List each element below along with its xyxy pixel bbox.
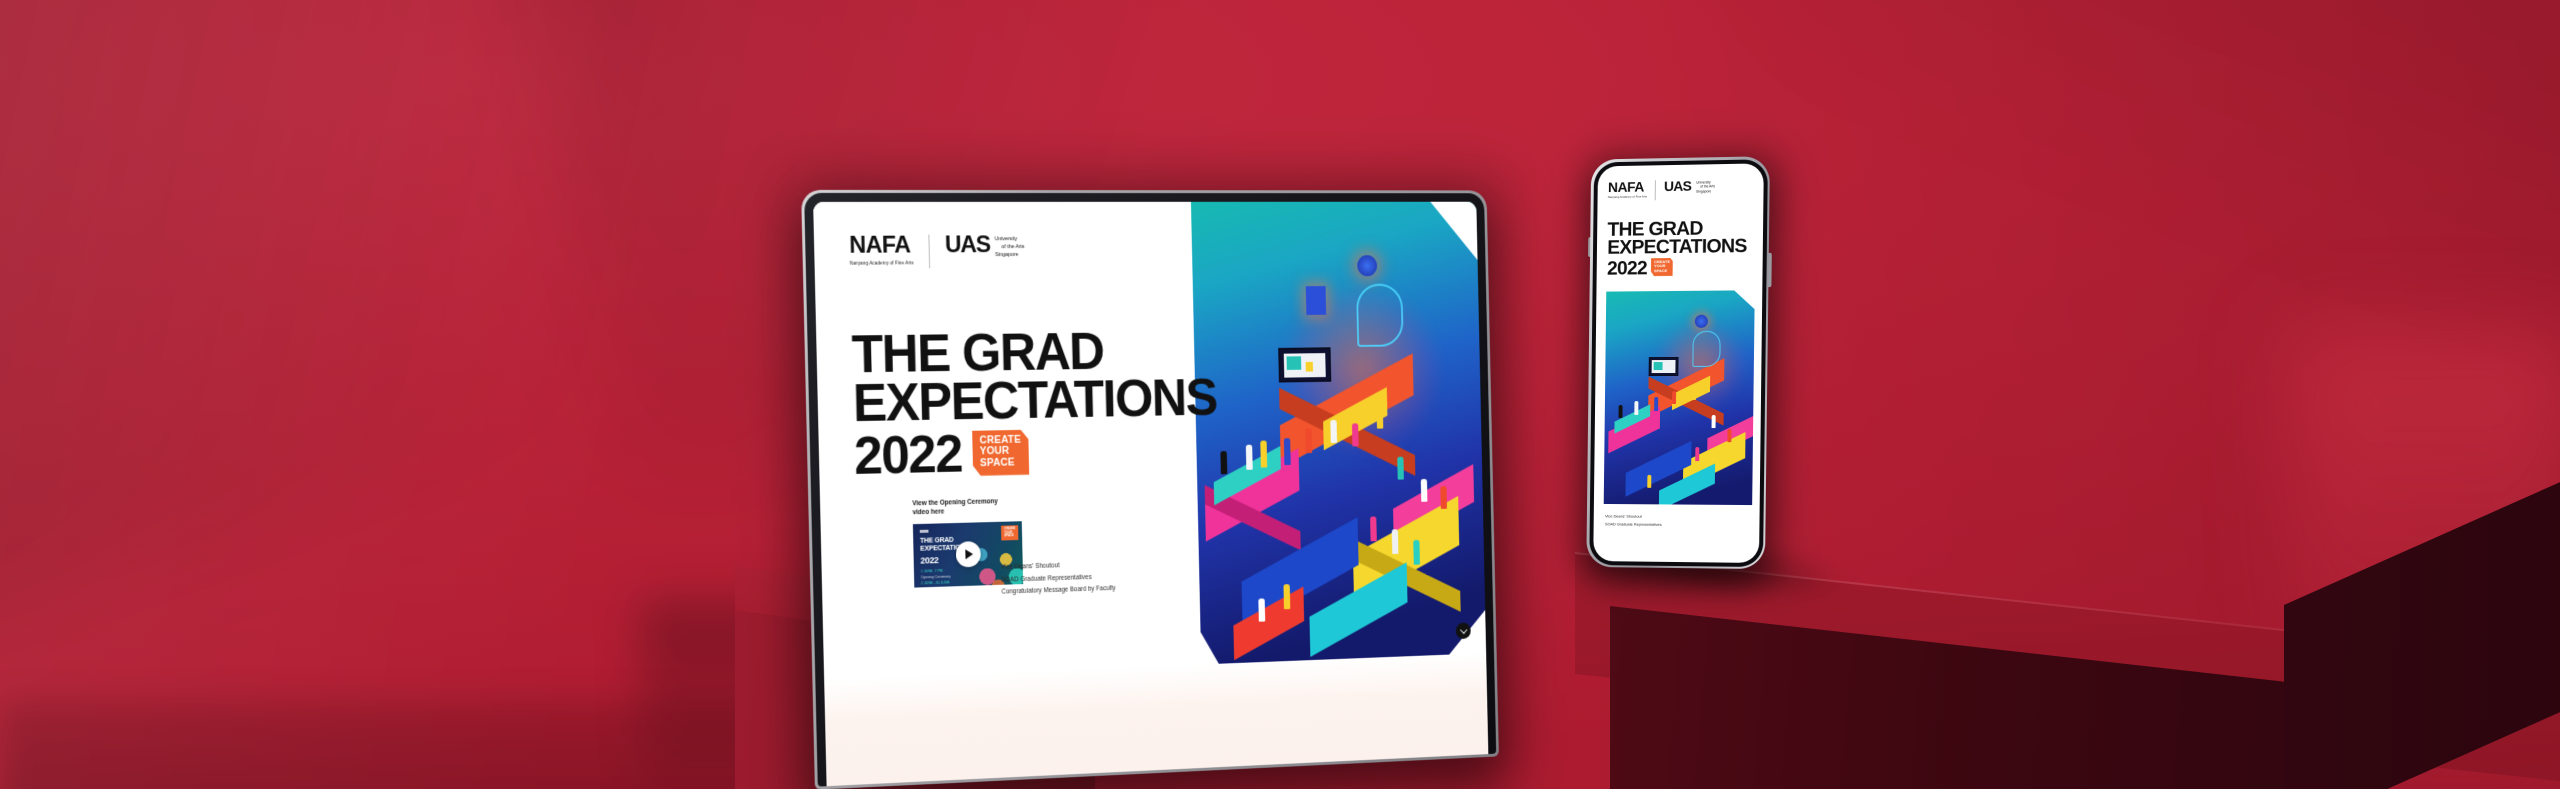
uas-tagline-line3: Singapore bbox=[995, 252, 1025, 260]
nafa-wordmark: NAFA bbox=[849, 234, 913, 258]
phone-uas-tagline-line3: Singapore bbox=[1696, 189, 1715, 194]
iso-figure bbox=[1330, 420, 1337, 443]
phone-iso-figure bbox=[1618, 405, 1622, 418]
phone-uas-wordmark: UAS bbox=[1664, 178, 1691, 192]
nafa-tagline: Nanyang Academy of Fine Arts bbox=[850, 260, 914, 265]
phone-badge-line3: SPACE bbox=[1654, 269, 1670, 274]
phone-iso-figure bbox=[1672, 390, 1676, 403]
phone-volume-button[interactable] bbox=[1588, 237, 1591, 257]
phone-site-header: NAFA Nanyang Academy of Fine Arts UAS Un… bbox=[1608, 178, 1715, 201]
video-thumb-meta-line4: Online Showcase bbox=[921, 586, 951, 588]
uas-logo[interactable]: UAS University of the Arts Singapore bbox=[945, 233, 1025, 259]
phone-hero-illustration bbox=[1603, 290, 1755, 505]
link-congratulatory-message-board[interactable]: Congratulatory Message Board by Faculty bbox=[1001, 583, 1115, 599]
laptop-shell: NAFA Nanyang Academy of Fine Arts UAS Un… bbox=[801, 190, 1499, 789]
phone-iso-orb bbox=[1694, 314, 1707, 327]
uas-tagline: University of the Arts Singapore bbox=[995, 233, 1025, 259]
video-thumb-badge-line3: SPACE bbox=[1004, 534, 1015, 538]
hero-link-list: Vice Deans' Shoutout SOAD Graduate Repre… bbox=[1001, 559, 1116, 600]
iso-figure bbox=[1246, 445, 1253, 470]
phone-link-list: Vice Deans' Shoutout SOAD Graduate Repre… bbox=[1605, 512, 1662, 528]
website-viewport: NAFA Nanyang Academy of Fine Arts UAS Un… bbox=[813, 202, 1488, 786]
iso-figure bbox=[1352, 423, 1359, 446]
video-thumb-year: 2022 bbox=[920, 555, 938, 565]
scene-stage: NAFA Nanyang Academy of Fine Arts UAS Un… bbox=[0, 0, 2560, 789]
iso-figure bbox=[1440, 486, 1447, 509]
phone-bezel: NAFA Nanyang Academy of Fine Arts UAS Un… bbox=[1589, 159, 1768, 567]
phone-link-vice-deans-shoutout[interactable]: Vice Deans' Shoutout bbox=[1605, 512, 1662, 520]
video-label: View the Opening Ceremony video here bbox=[912, 497, 1018, 518]
badge-line3: SPACE bbox=[980, 457, 1022, 469]
iso-figure bbox=[1258, 598, 1265, 621]
hero-year: 2022 bbox=[854, 431, 963, 482]
phone-iso-figure bbox=[1711, 415, 1715, 428]
iso-figure bbox=[1220, 451, 1227, 474]
iso-figure bbox=[1397, 457, 1404, 480]
chevron-down-icon bbox=[1460, 626, 1467, 634]
hero-illustration bbox=[1191, 202, 1486, 665]
uas-wordmark: UAS bbox=[945, 233, 991, 257]
phone-nafa-tagline: Nanyang Academy of Fine Arts bbox=[1608, 195, 1647, 199]
iso-monitor-tile-yellow bbox=[1306, 362, 1313, 372]
logo-divider bbox=[928, 235, 930, 269]
iso-figure bbox=[1305, 428, 1312, 453]
phone-logo-divider bbox=[1655, 180, 1656, 200]
iso-figure bbox=[1284, 438, 1291, 465]
illustration-corner-wedge-top bbox=[1429, 202, 1480, 263]
laptop-mockup: NAFA Nanyang Academy of Fine Arts UAS Un… bbox=[801, 190, 1499, 789]
hero-title: THE GRAD EXPECTATIONS 2022 CREATE YOUR S… bbox=[851, 327, 1218, 481]
phone-uas-tagline: University of the Arts Singapore bbox=[1696, 178, 1715, 194]
phone-screen: NAFA Nanyang Academy of Fine Arts UAS Un… bbox=[1593, 163, 1764, 563]
phone-shell: NAFA Nanyang Academy of Fine Arts UAS Un… bbox=[1586, 156, 1770, 569]
uas-tagline-line2: of the Arts bbox=[995, 244, 1025, 252]
iso-figure bbox=[1392, 529, 1399, 554]
phone-iso-monitor-tile bbox=[1653, 362, 1662, 370]
video-thumb-logo bbox=[920, 530, 929, 533]
iso-monitor-tile-teal bbox=[1287, 356, 1302, 370]
phone-nafa-wordmark: NAFA bbox=[1608, 179, 1647, 194]
iso-figure bbox=[1377, 406, 1384, 429]
phone-mockup: NAFA Nanyang Academy of Fine Arts UAS Un… bbox=[1586, 156, 1770, 569]
iso-orb bbox=[1357, 255, 1377, 276]
laptop-bezel: NAFA Nanyang Academy of Fine Arts UAS Un… bbox=[804, 193, 1496, 787]
phone-iso-pin-bubble bbox=[1692, 330, 1720, 366]
iso-figure bbox=[1421, 479, 1428, 502]
phone-iso-figure bbox=[1727, 429, 1731, 442]
hero-year-row: 2022 CREATE YOUR SPACE bbox=[854, 426, 1219, 482]
phone-uas-logo[interactable]: UAS University of the Arts Singapore bbox=[1664, 178, 1715, 195]
play-triangle bbox=[965, 549, 973, 559]
phone-create-your-space-badge: CREATE YOUR SPACE bbox=[1651, 258, 1673, 277]
phone-hero-year: 2022 bbox=[1607, 259, 1647, 278]
phone-iso-figure bbox=[1654, 397, 1658, 411]
nafa-logo[interactable]: NAFA Nanyang Academy of Fine Arts bbox=[849, 234, 914, 266]
phone-iso-figure bbox=[1691, 386, 1695, 399]
iso-figure bbox=[1370, 516, 1377, 541]
video-thumb-meta: 1 JUNE, 7 PM Opening Ceremony 2 JUNE - 3… bbox=[921, 568, 951, 588]
hero-section: NAFA Nanyang Academy of Fine Arts UAS Un… bbox=[813, 202, 1486, 680]
iso-figure bbox=[1283, 584, 1290, 609]
phone-iso-figure bbox=[1634, 401, 1638, 415]
laptop-screen: NAFA Nanyang Academy of Fine Arts UAS Un… bbox=[813, 202, 1488, 786]
hero-title-line2: EXPECTATIONS bbox=[852, 375, 1217, 429]
phone-iso-figure bbox=[1695, 447, 1699, 461]
phone-link-soad-graduate-representatives[interactable]: SOAD Graduate Representatives bbox=[1605, 520, 1662, 528]
phone-nafa-logo[interactable]: NAFA Nanyang Academy of Fine Arts bbox=[1608, 179, 1647, 199]
iso-cube-glow bbox=[1306, 286, 1326, 315]
phone-hero-title: THE GRAD EXPECTATIONS 2022 CREATE YOUR S… bbox=[1607, 218, 1747, 278]
create-your-space-badge: CREATE YOUR SPACE bbox=[972, 429, 1030, 476]
iso-figure bbox=[1413, 540, 1420, 565]
iso-figure bbox=[1260, 440, 1267, 467]
site-header: NAFA Nanyang Academy of Fine Arts UAS Un… bbox=[813, 202, 1025, 269]
uas-tagline-line1: University bbox=[995, 236, 1025, 244]
phone-hero-title-line2: EXPECTATIONS bbox=[1607, 237, 1747, 257]
video-thumb-badge: CREATE YOUR SPACE bbox=[1001, 525, 1018, 540]
iso-pin-bubble bbox=[1356, 284, 1404, 347]
phone-iso-figure bbox=[1647, 474, 1651, 487]
video-label-line2: video here bbox=[913, 506, 1018, 518]
phone-hero-year-row: 2022 CREATE YOUR SPACE bbox=[1607, 257, 1747, 278]
phone-power-button[interactable] bbox=[1768, 253, 1771, 287]
